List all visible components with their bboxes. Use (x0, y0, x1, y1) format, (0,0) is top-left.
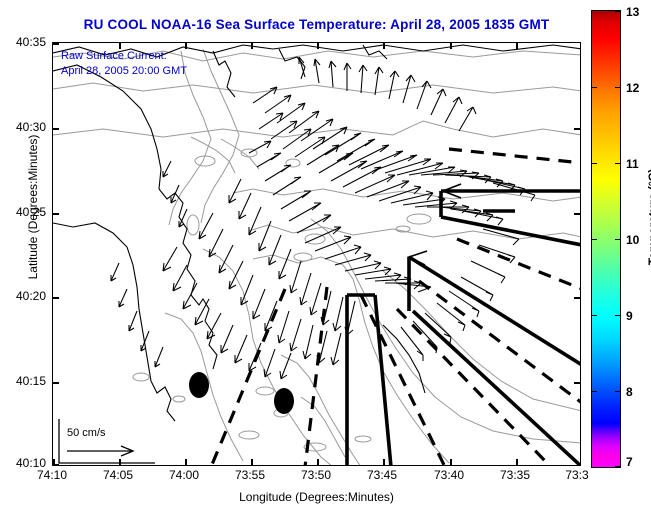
ytick-label: 40:15 (2, 374, 46, 388)
ytick-mark-right (574, 297, 580, 299)
colorbar[interactable] (591, 10, 621, 468)
map-plot-area[interactable]: Raw Surface Current: April 28, 2005 20:0… (52, 42, 581, 466)
annotation-raw-surface-current: Raw Surface Current: (61, 49, 167, 64)
ytick-mark (53, 382, 59, 384)
colorbar-tick-label: 9 (626, 309, 633, 323)
xtick-mark (383, 459, 385, 465)
colorbar-tick-label: 8 (626, 385, 633, 399)
colorbar-tick-label: 10 (626, 233, 639, 247)
ytick-mark (53, 128, 59, 130)
figure-title: RU COOL NOAA-16 Sea Surface Temperature:… (52, 17, 581, 32)
xtick-mark-top (185, 43, 187, 49)
xtick-label: 73:55 (235, 468, 265, 482)
xtick-mark (317, 459, 319, 465)
xtick-mark (119, 459, 121, 465)
colorbar-tick-label: 7 (626, 455, 633, 469)
figure-canvas: RU COOL NOAA-16 Sea Surface Temperature:… (0, 0, 651, 515)
xtick-mark-top (251, 43, 253, 49)
map-overlay (53, 43, 581, 466)
annotation-current-timestamp: April 28, 2005 20:00 GMT (61, 64, 187, 79)
xtick-label: 74:05 (103, 468, 133, 482)
xtick-label: 73:50 (301, 468, 331, 482)
scale-legend-label: 50 cm/s (67, 427, 106, 439)
colorbar-tick-label: 11 (626, 157, 639, 171)
ytick-mark-right (574, 382, 580, 384)
ytick-mark (53, 297, 59, 299)
colorbar-label: Temperature (°C) (646, 132, 651, 302)
ytick-mark (53, 213, 59, 215)
xtick-mark (450, 459, 452, 465)
xtick-mark-top (450, 43, 452, 49)
ytick-mark-right (574, 213, 580, 215)
xtick-mark-top (383, 43, 385, 49)
ytick-mark (53, 464, 59, 466)
ytick-label: 40:35 (2, 35, 46, 49)
x-axis-label: Longitude (Degrees:Minutes) (52, 490, 581, 504)
xtick-mark (516, 459, 518, 465)
xtick-mark-top (317, 43, 319, 49)
xtick-label: 73:40 (434, 468, 464, 482)
ytick-mark (53, 43, 59, 45)
xtick-label: 73:35 (500, 468, 530, 482)
colorbar-tick-label: 12 (626, 81, 639, 95)
xtick-mark (580, 459, 581, 465)
current-vectors (111, 57, 535, 379)
xtick-label: 73:45 (367, 468, 397, 482)
xtick-mark (185, 459, 187, 465)
xtick-label: 74:00 (169, 468, 199, 482)
ytick-mark-right (574, 128, 580, 130)
xtick-mark (251, 459, 253, 465)
y-axis-label: Latitude (Degrees:Minutes) (26, 122, 40, 292)
xtick-label: 74:10 (37, 468, 67, 482)
ytick-label: 40:10 (2, 456, 46, 470)
colorbar-tick-label: 13 (626, 5, 639, 19)
scale-legend-graphic (59, 419, 155, 463)
xtick-label: 73:3 (565, 468, 588, 482)
xtick-mark-top (516, 43, 518, 49)
